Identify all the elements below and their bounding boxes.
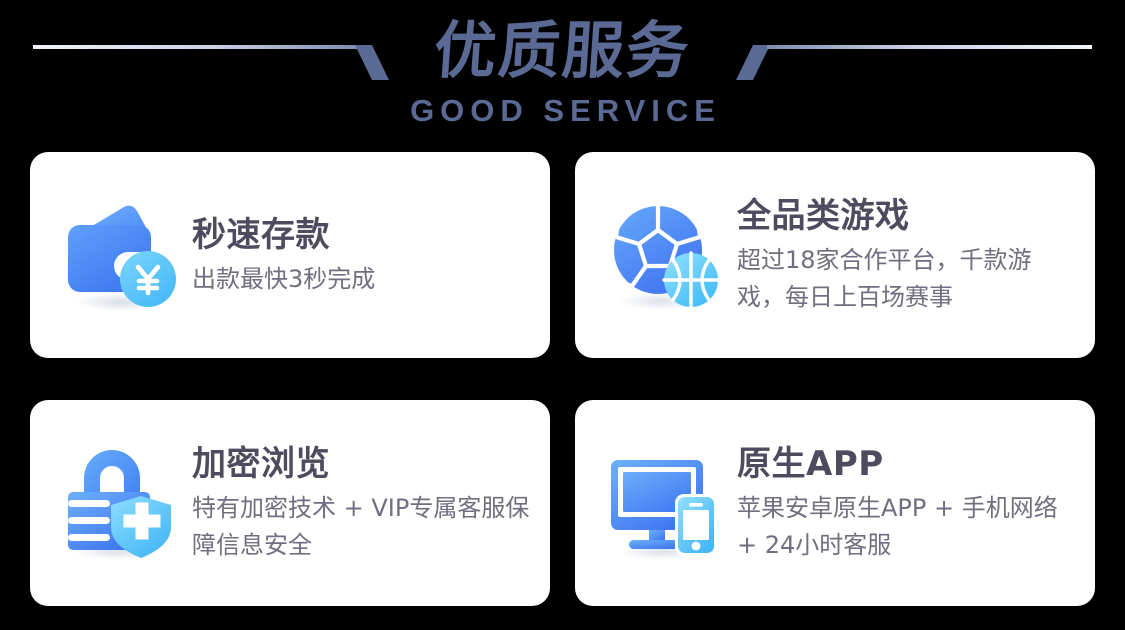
service-card-encryption[interactable]: 加密浏览 特有加密技术 + VIP专属客服保障信息安全 bbox=[30, 400, 550, 606]
monitor-phone-icon bbox=[603, 442, 725, 564]
card-text-block: 加密浏览 特有加密技术 + VIP专属客服保障信息安全 bbox=[192, 442, 530, 564]
card-title: 原生APP bbox=[737, 442, 1075, 486]
service-card-native-app[interactable]: 原生APP 苹果安卓原生APP + 手机网络 + 24小时客服 bbox=[575, 400, 1095, 606]
soccer-basketball-icon bbox=[603, 194, 725, 316]
card-title: 秒速存款 bbox=[192, 213, 530, 257]
page-header: 优质服务 GOOD SERVICE bbox=[0, 0, 1125, 148]
card-description: 特有加密技术 + VIP专属客服保障信息安全 bbox=[192, 490, 530, 564]
wallet-yen-icon bbox=[58, 194, 180, 316]
card-description: 出款最快3秒完成 bbox=[192, 261, 530, 298]
card-title: 加密浏览 bbox=[192, 442, 530, 486]
service-card-deposit[interactable]: 秒速存款 出款最快3秒完成 bbox=[30, 152, 550, 358]
card-text-block: 全品类游戏 超过18家合作平台，千款游戏，每日上百场赛事 bbox=[737, 194, 1075, 316]
service-card-grid: 秒速存款 出款最快3秒完成 bbox=[30, 152, 1095, 606]
lock-shield-icon bbox=[58, 442, 180, 564]
card-description: 苹果安卓原生APP + 手机网络 + 24小时客服 bbox=[737, 490, 1075, 564]
page-subtitle: GOOD SERVICE bbox=[0, 94, 1125, 128]
service-card-games[interactable]: 全品类游戏 超过18家合作平台，千款游戏，每日上百场赛事 bbox=[575, 152, 1095, 358]
card-text-block: 秒速存款 出款最快3秒完成 bbox=[192, 213, 530, 298]
card-description: 超过18家合作平台，千款游戏，每日上百场赛事 bbox=[737, 242, 1075, 316]
card-title: 全品类游戏 bbox=[737, 194, 1075, 238]
card-text-block: 原生APP 苹果安卓原生APP + 手机网络 + 24小时客服 bbox=[737, 442, 1075, 564]
page-title: 优质服务 bbox=[0, 0, 1125, 94]
